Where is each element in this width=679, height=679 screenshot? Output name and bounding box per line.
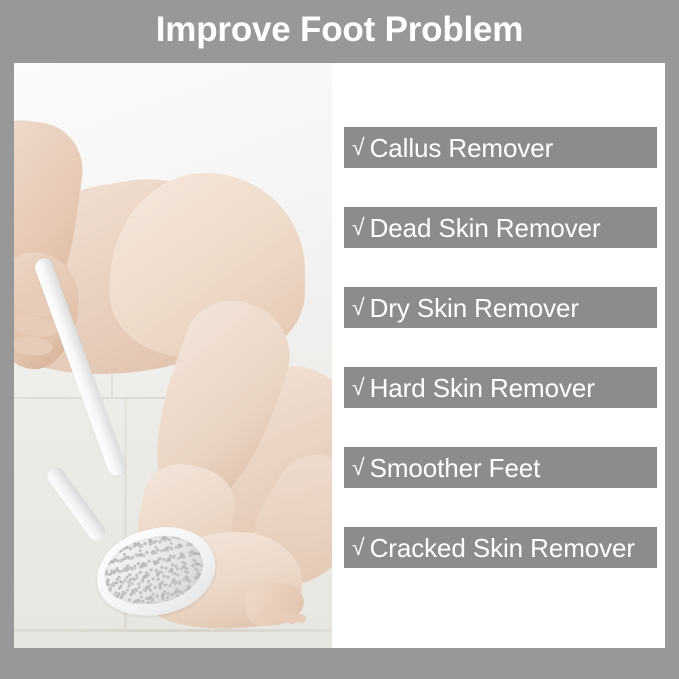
page-title: Improve Foot Problem xyxy=(0,8,679,52)
feature-label: Dry Skin Remover xyxy=(370,293,579,323)
feature-item-cracked-skin-remover: √ Cracked Skin Remover xyxy=(344,527,657,568)
feature-label: Dead Skin Remover xyxy=(370,213,601,243)
photo-toe-4 xyxy=(296,614,306,623)
check-icon: √ xyxy=(352,376,365,399)
check-icon: √ xyxy=(352,296,365,319)
feature-label: Cracked Skin Remover xyxy=(370,533,635,563)
feature-item-callus-remover: √ Callus Remover xyxy=(344,127,657,168)
product-feature-poster: Improve Foot Problem xyxy=(0,0,679,679)
content-card: √ Callus Remover √ Dead Skin Remover √ D… xyxy=(14,63,665,648)
feature-list: √ Callus Remover √ Dead Skin Remover √ D… xyxy=(332,63,665,648)
feature-label: Smoother Feet xyxy=(370,453,541,483)
tile-grout-line-horizontal-2 xyxy=(14,629,332,632)
feature-item-dead-skin-remover: √ Dead Skin Remover xyxy=(344,207,657,248)
feature-label: Hard Skin Remover xyxy=(370,373,595,403)
check-icon: √ xyxy=(352,136,365,159)
feature-label: Callus Remover xyxy=(370,133,554,163)
feature-item-hard-skin-remover: √ Hard Skin Remover xyxy=(344,367,657,408)
feature-item-dry-skin-remover: √ Dry Skin Remover xyxy=(344,287,657,328)
check-icon: √ xyxy=(352,536,365,559)
feature-item-smoother-feet: √ Smoother Feet xyxy=(344,447,657,488)
product-usage-photo xyxy=(14,63,332,648)
check-icon: √ xyxy=(352,216,365,239)
check-icon: √ xyxy=(352,456,365,479)
